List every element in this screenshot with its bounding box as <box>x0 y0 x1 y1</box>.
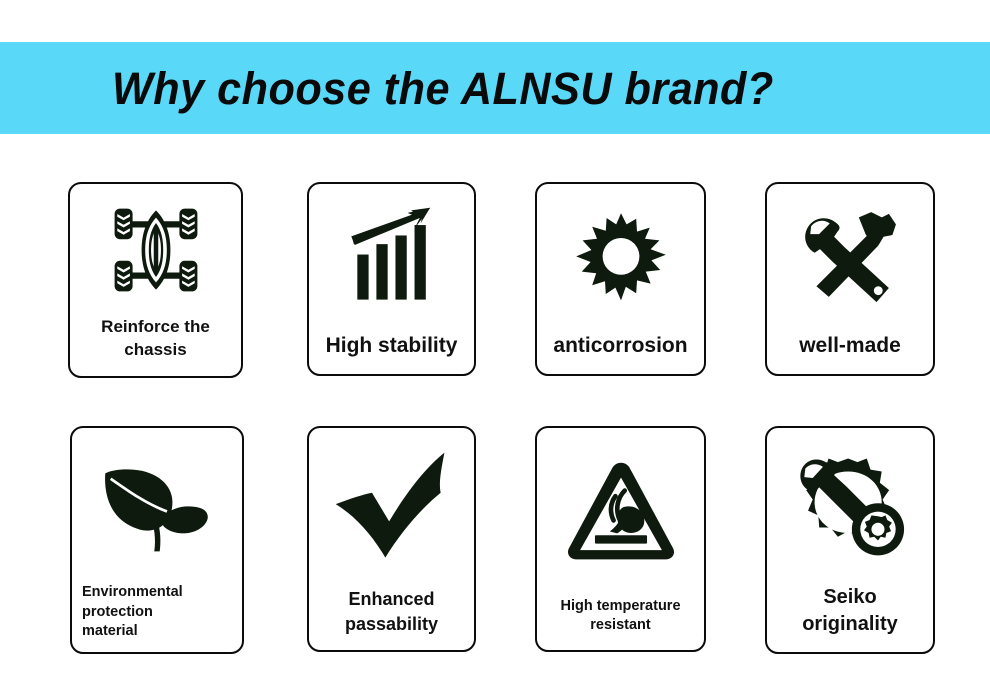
feature-card-label: Reinforce the chassis <box>70 316 241 376</box>
feature-card-anticorrosion[interactable]: anticorrosion <box>535 182 706 376</box>
feature-card-label: Enhanced passability <box>309 587 474 650</box>
feature-card-label-line2: material <box>82 622 236 642</box>
feature-card-seiko-originality[interactable]: Seiko originality <box>765 426 935 654</box>
feature-card-label: Environmental protection material <box>72 583 242 652</box>
feature-card-label-line1: Environmental protection <box>82 583 236 622</box>
feature-card-label: well-made <box>767 332 933 374</box>
feature-card-high-stability[interactable]: High stability <box>307 182 476 376</box>
feature-card-grid: Reinforce the chassis High stability <box>0 134 990 678</box>
page-title: Why choose the ALNSU brand? <box>112 66 774 111</box>
page-banner: Why choose the ALNSU brand? <box>0 42 990 134</box>
feature-card-well-made[interactable]: well-made <box>765 182 935 376</box>
wrench-gears-icon <box>767 428 933 584</box>
feature-card-reinforce-the-chassis[interactable]: Reinforce the chassis <box>68 182 243 378</box>
feature-card-label: Seiko originality <box>767 584 933 652</box>
feature-card-label: anticorrosion <box>537 332 704 374</box>
growth-bar-chart-arrow-icon <box>309 184 474 332</box>
leaves-icon <box>72 428 242 583</box>
checkmark-icon <box>309 428 474 587</box>
feature-card-high-temperature-resistant[interactable]: High temperature resistant <box>535 426 706 652</box>
heat-warning-triangle-icon <box>537 428 704 597</box>
feature-card-environmental-protection-material[interactable]: Environmental protection material <box>70 426 244 654</box>
chassis-axle-icon <box>70 184 241 316</box>
corroded-gear-icon <box>537 184 704 332</box>
feature-card-enhanced-passability[interactable]: Enhanced passability <box>307 426 476 652</box>
feature-card-label: High temperature resistant <box>537 597 704 650</box>
wrench-hammer-icon <box>767 184 933 332</box>
feature-card-label: High stability <box>309 332 474 374</box>
